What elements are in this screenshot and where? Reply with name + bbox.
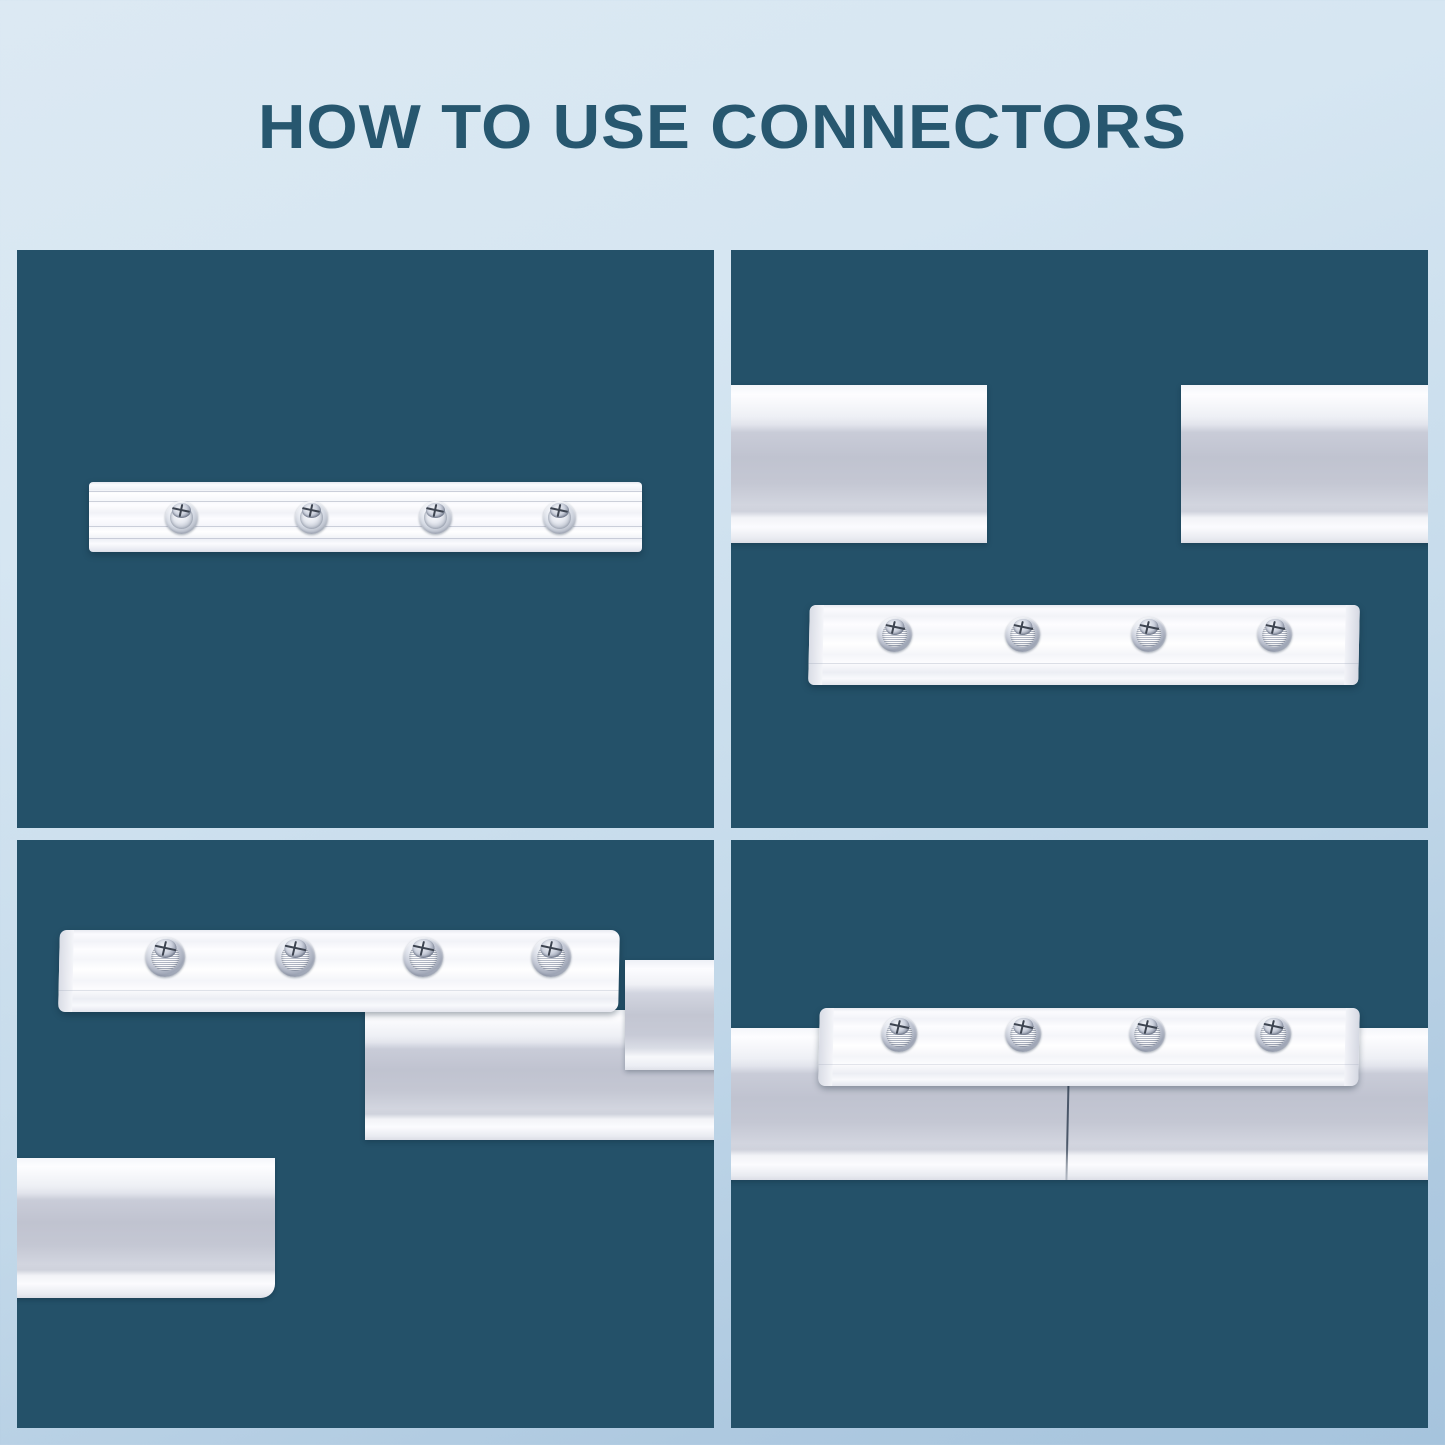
- connector-groove: [809, 663, 1359, 664]
- connector-end-cap-left: [818, 1008, 834, 1086]
- panel-step-2: 2. Connector and tracks: [731, 250, 1428, 828]
- connector-end-cap-right: [1344, 1008, 1360, 1086]
- screw-head: [419, 501, 452, 534]
- screw-head: [1005, 1016, 1042, 1052]
- panel-step-1: 1. Connector: [17, 250, 714, 828]
- screw-head: [877, 617, 913, 652]
- connector-bar: [58, 930, 620, 1012]
- screw-head: [543, 501, 576, 534]
- panel-step-3: 3. Install the track Tightenthe screws: [17, 840, 714, 1428]
- connector-bar: [818, 1008, 1360, 1086]
- screw-head: [403, 937, 444, 977]
- screw-head: [1257, 617, 1293, 652]
- track-section-mounted-extension: [625, 960, 714, 1070]
- connector-groove: [89, 538, 642, 539]
- connector-bar: [808, 605, 1360, 685]
- page-title: HOW TO USE CONNECTORS: [0, 92, 1445, 163]
- screw-head: [295, 501, 328, 534]
- track-section-left: [731, 385, 987, 543]
- screw-head: [881, 1016, 918, 1052]
- connector-end-cap-left: [808, 605, 824, 685]
- panel-step-4: 4. Docking trackTighten thescrews: [731, 840, 1428, 1428]
- screw-head: [1255, 1016, 1292, 1052]
- track-section-right: [1181, 385, 1428, 543]
- connector-groove: [59, 990, 619, 991]
- connector-end-cap-right: [1344, 605, 1360, 685]
- screw-head: [145, 937, 186, 977]
- connector-groove: [819, 1064, 1359, 1065]
- screw-head: [165, 501, 198, 534]
- screw-head: [1131, 617, 1167, 652]
- connector-end-cap-left: [58, 930, 74, 1012]
- infographic-page: HOW TO USE CONNECTORS: [0, 0, 1445, 1445]
- screw-head: [275, 937, 316, 977]
- screw-head: [1005, 617, 1041, 652]
- connector-groove: [89, 491, 642, 492]
- screw-head: [1129, 1016, 1166, 1052]
- connector-bar: [89, 482, 642, 552]
- screw-head: [531, 937, 572, 977]
- track-section-loose: [17, 1158, 275, 1298]
